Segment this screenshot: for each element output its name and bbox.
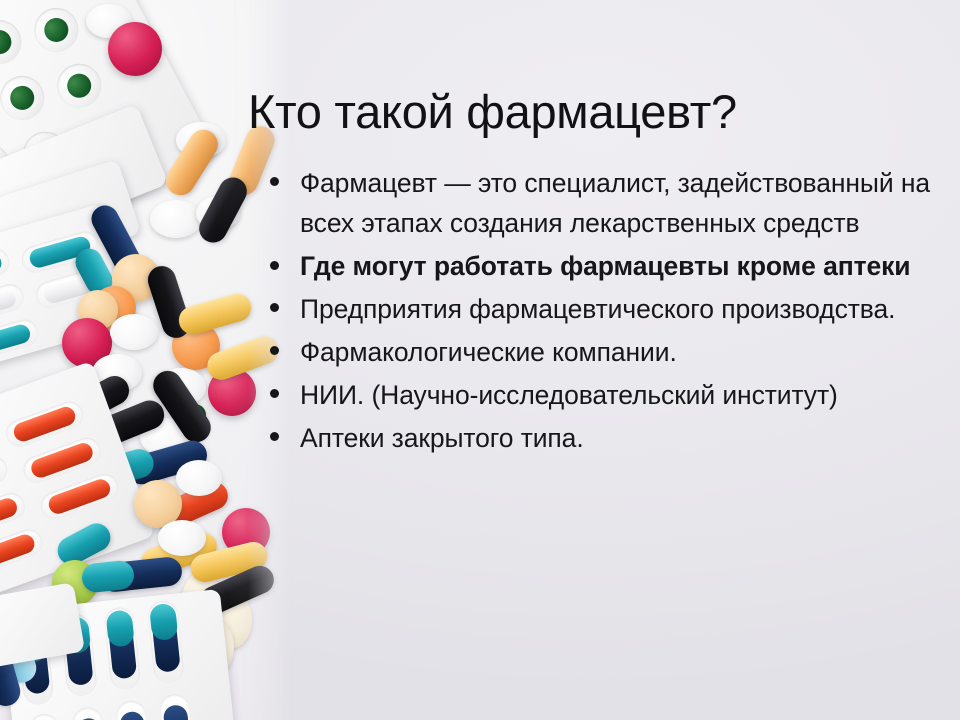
slide: Кто такой фармацевт? Фармацевт — это спе… [0,0,960,720]
list-item-label: Фармакологические компании. [300,337,677,367]
tablet [158,520,206,556]
list-item: Фармацевт — это специалист, задействован… [266,163,952,243]
list-item-label: Аптеки закрытого типа. [300,423,584,453]
list-item-label: Где могут работать фармацевты кроме апте… [300,251,911,281]
tablet [150,200,202,238]
list-item-label: Предприятия фармацевтического производст… [300,294,895,324]
bullet-marker-icon [270,346,279,355]
list-item-label: НИИ. (Научно-исследовательский институт) [300,380,838,410]
list-item: НИИ. (Научно-исследовательский институт) [266,375,952,415]
bullet-list: Фармацевт — это специалист, задействован… [266,163,952,461]
bullet-marker-icon [270,303,279,312]
bullet-marker-icon [270,261,279,270]
list-item-label: Фармацевт — это специалист, задействован… [300,168,930,238]
list-item: Аптеки закрытого типа. [266,418,952,458]
list-item: Предприятия фармацевтического производст… [266,289,952,329]
tablet [176,460,222,496]
bullet-marker-icon [270,389,279,398]
coated-ball-crimson [108,22,162,76]
list-item: Фармакологические компании. [266,332,952,372]
tablet [110,314,158,350]
page-title: Кто такой фармацевт? [248,87,938,138]
list-item: Где могут работать фармацевты кроме апте… [266,246,952,286]
bullet-marker-icon [270,177,279,186]
bullet-marker-icon [270,432,279,441]
